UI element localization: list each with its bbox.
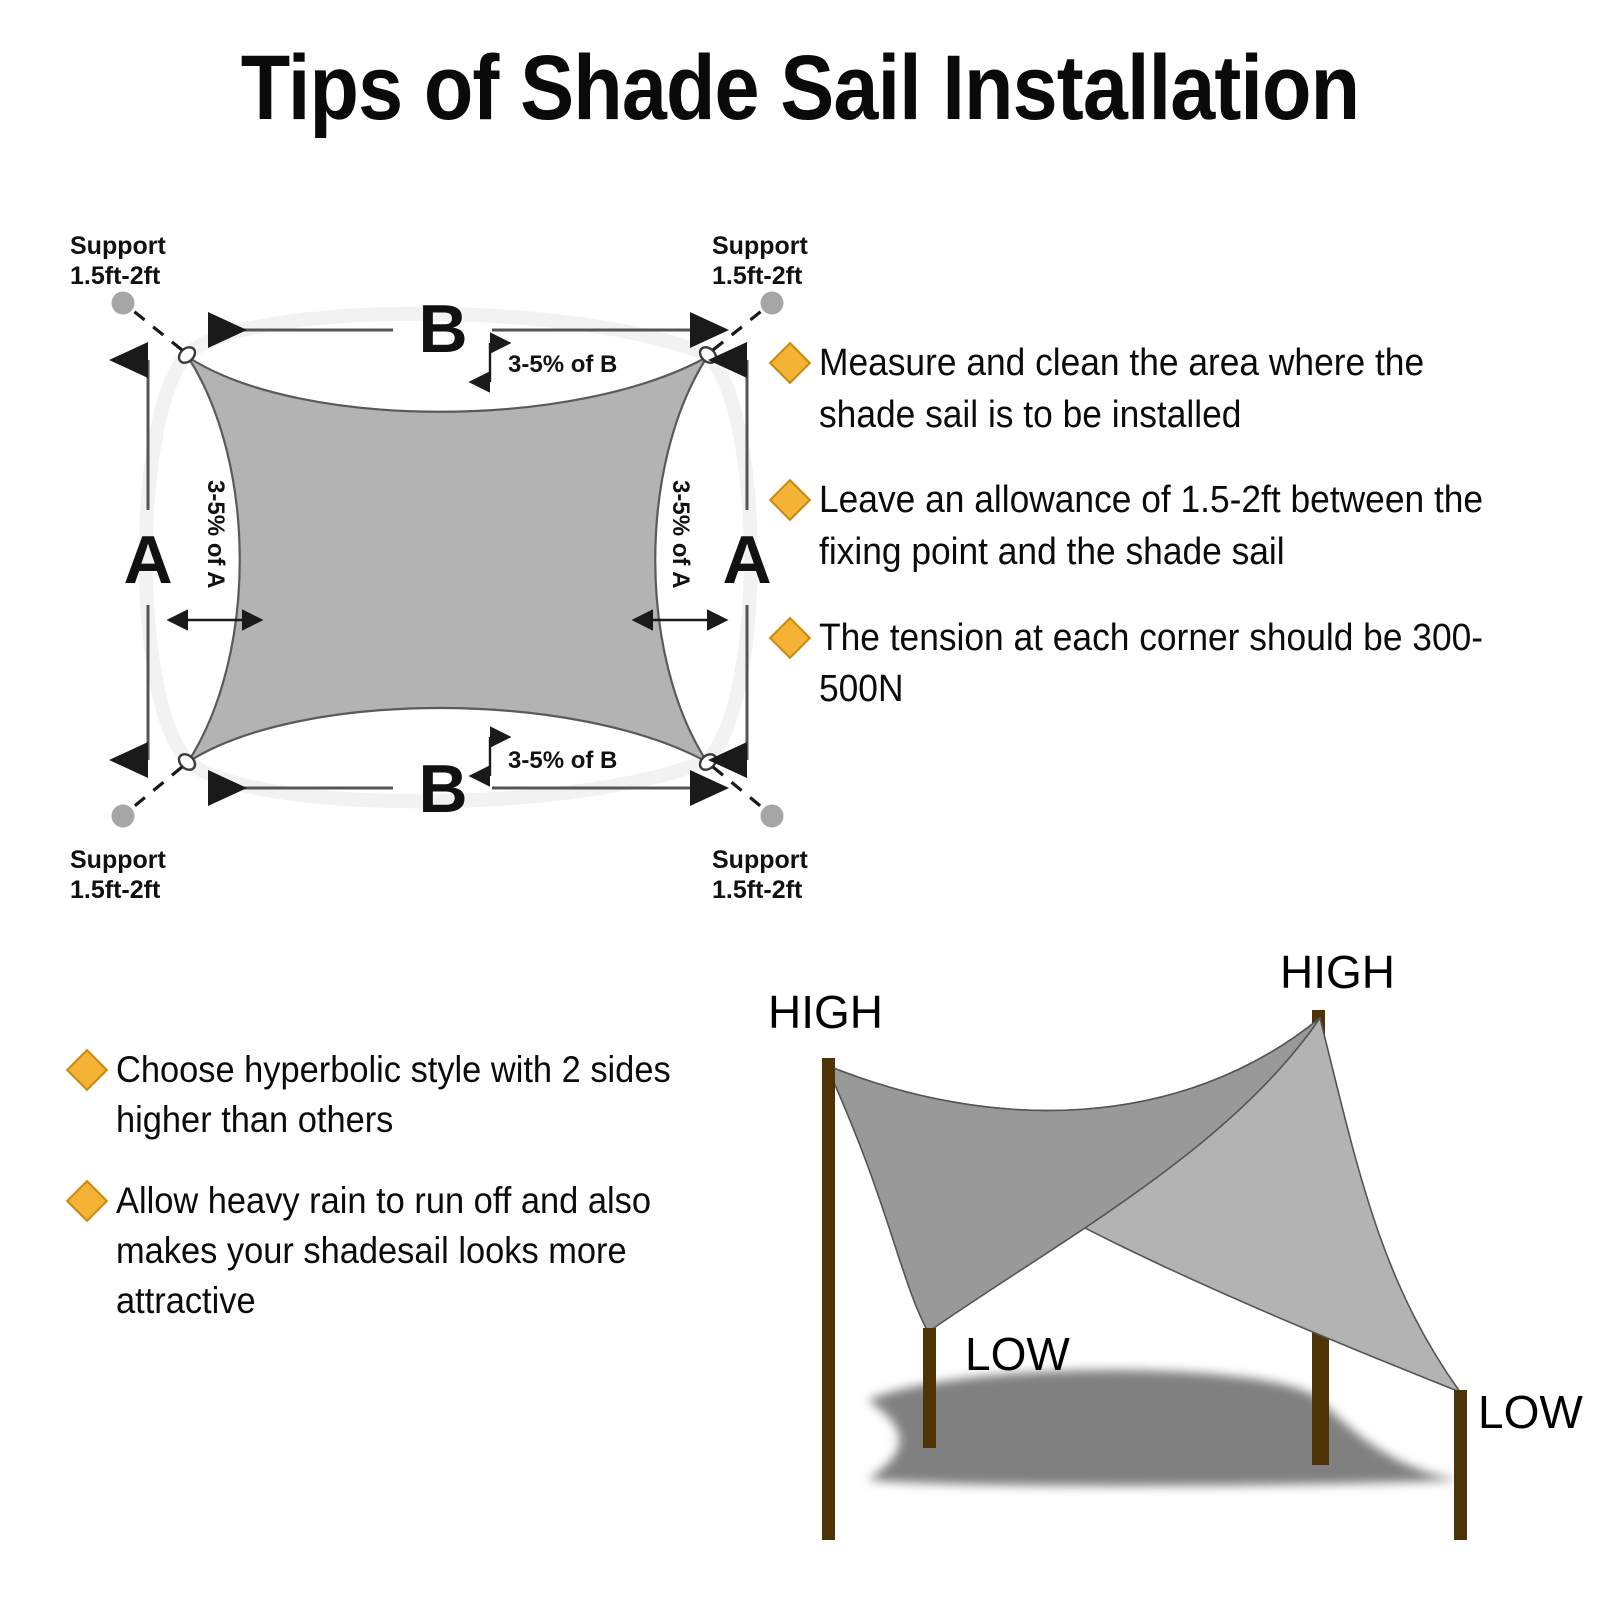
support-top-right-line2: 1.5ft-2ft [712, 262, 803, 290]
support-bottom-right-line1: Support [712, 846, 808, 874]
list-item: Choose hyperbolic style with 2 sides hig… [72, 1045, 802, 1146]
support-top-left-line1: Support [70, 232, 166, 260]
cable-bottom-right [713, 767, 769, 813]
curve-note-right-label: 3-5% of A [667, 480, 694, 588]
dim-b-top: B [208, 291, 690, 367]
post-low-right [1454, 1390, 1467, 1540]
cable-bottom-left [126, 767, 182, 813]
curve-note-bottom: 3-5% of B [490, 737, 617, 776]
diamond-bullet-icon [769, 616, 811, 658]
tip-text: The tension at each corner should be 300… [819, 613, 1513, 716]
list-item: Leave an allowance of 1.5-2ft between th… [775, 475, 1565, 578]
hyperbolic-shade-sail-diagram: HIGH HIGH LOW LOW [760, 900, 1600, 1540]
diamond-bullet-icon [769, 479, 811, 521]
dim-b-bottom: B [208, 751, 690, 827]
dim-b-bottom-label: B [418, 751, 467, 827]
tip-text: Measure and clean the area where the sha… [819, 338, 1513, 441]
ground-shadow [868, 1370, 1460, 1486]
post-label-low-left: LOW [965, 1328, 1070, 1380]
support-top-left-line2: 1.5ft-2ft [70, 262, 161, 290]
diamond-bullet-icon [66, 1049, 108, 1091]
curve-note-top-label: 3-5% of B [508, 351, 617, 378]
tips-list-bottom: Choose hyperbolic style with 2 sides hig… [72, 1045, 802, 1357]
list-item: Allow heavy rain to run off and also mak… [72, 1176, 802, 1327]
curve-note-left-label: 3-5% of A [202, 480, 229, 588]
anchor-top-left [112, 292, 135, 315]
curve-note-left: 3-5% of A [188, 480, 242, 620]
support-top-right-line1: Support [712, 232, 808, 260]
anchor-top-right [761, 292, 784, 315]
diamond-bullet-icon [769, 342, 811, 384]
curve-note-top: 3-5% of B [490, 343, 617, 382]
tips-list-top: Measure and clean the area where the sha… [775, 338, 1565, 750]
cable-top-right [713, 305, 769, 350]
post-low-left [923, 1328, 936, 1448]
tip-text: Leave an allowance of 1.5-2ft between th… [819, 475, 1513, 578]
dim-a-right-label: A [722, 522, 771, 598]
list-item: The tension at each corner should be 300… [775, 613, 1565, 716]
dim-a-left-label: A [123, 522, 172, 598]
post-label-high-right: HIGH [1280, 946, 1395, 998]
post-high-left [822, 1058, 835, 1540]
anchor-bottom-left [112, 805, 135, 828]
shade-sail-measurement-diagram: Support 1.5ft-2ft Support 1.5ft-2ft Supp… [60, 200, 820, 920]
support-bottom-left-line2: 1.5ft-2ft [70, 876, 161, 904]
cable-top-left [126, 305, 182, 350]
post-label-high-left: HIGH [768, 986, 883, 1038]
anchor-bottom-right [761, 805, 784, 828]
list-item: Measure and clean the area where the sha… [775, 338, 1565, 441]
support-bottom-left-line1: Support [70, 846, 166, 874]
sail-fabric [188, 357, 707, 762]
curve-note-bottom-label: 3-5% of B [508, 747, 617, 774]
tip-text: Choose hyperbolic style with 2 sides hig… [116, 1045, 754, 1146]
diamond-bullet-icon [66, 1179, 108, 1221]
dim-b-top-label: B [418, 291, 467, 367]
post-label-low-right: LOW [1478, 1386, 1583, 1438]
curve-note-right: 3-5% of A [653, 480, 707, 620]
page-title: Tips of Shade Sail Installation [96, 42, 1504, 134]
tip-text: Allow heavy rain to run off and also mak… [116, 1176, 754, 1327]
post-low-mid [1316, 1330, 1329, 1465]
